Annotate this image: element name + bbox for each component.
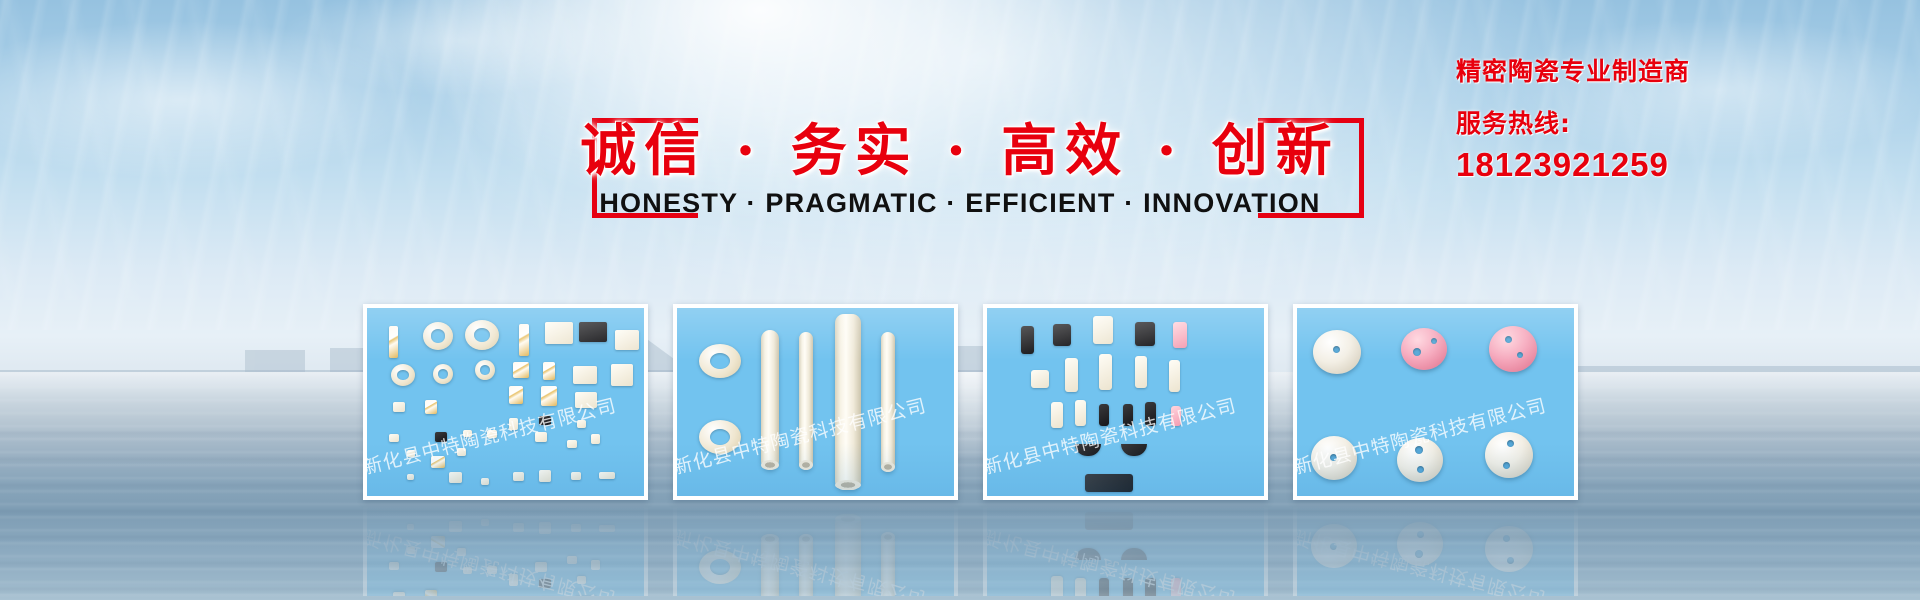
product-panel-discs[interactable]: 新化县中特陶瓷科技有限公司 — [1293, 304, 1578, 500]
promotional-banner: 诚信 · 务实 · 高效 · 创新 HONESTY · PRAGMATIC · … — [0, 0, 1920, 600]
panel-watermark: 新化县中特陶瓷科技有限公司 — [363, 524, 648, 596]
panel-reflection: 新化县中特陶瓷科技有限公司 — [983, 504, 1268, 596]
company-tagline: 精密陶瓷专业制造商 — [1456, 52, 1876, 88]
panel-reflection: 新化县中特陶瓷科技有限公司 — [1293, 504, 1578, 596]
hotline-label: 服务热线: — [1456, 104, 1876, 140]
product-panel-tubes-rings[interactable]: 新化县中特陶瓷科技有限公司 — [673, 304, 958, 500]
product-panel-row: 新化县中特陶瓷科技有限公司 新化县中特陶瓷科技有限公司 — [0, 304, 1920, 500]
panel-watermark: 新化县中特陶瓷科技有限公司 — [363, 381, 648, 480]
panel-reflection: 新化县中特陶瓷科技有限公司 — [363, 504, 648, 596]
product-panel-smd-components[interactable]: 新化县中特陶瓷科技有限公司 — [363, 304, 648, 500]
hotline-number[interactable]: 18123921259 — [1456, 146, 1876, 184]
contact-block: 精密陶瓷专业制造商 服务热线: 18123921259 — [1456, 52, 1876, 184]
panel-watermark: 新化县中特陶瓷科技有限公司 — [983, 381, 1268, 480]
slogan-english: HONESTY · PRAGMATIC · EFFICIENT · INNOVA… — [0, 188, 1920, 219]
product-panel-blocks[interactable]: 新化县中特陶瓷科技有限公司 — [983, 304, 1268, 500]
panel-reflection: 新化县中特陶瓷科技有限公司 — [673, 504, 958, 596]
